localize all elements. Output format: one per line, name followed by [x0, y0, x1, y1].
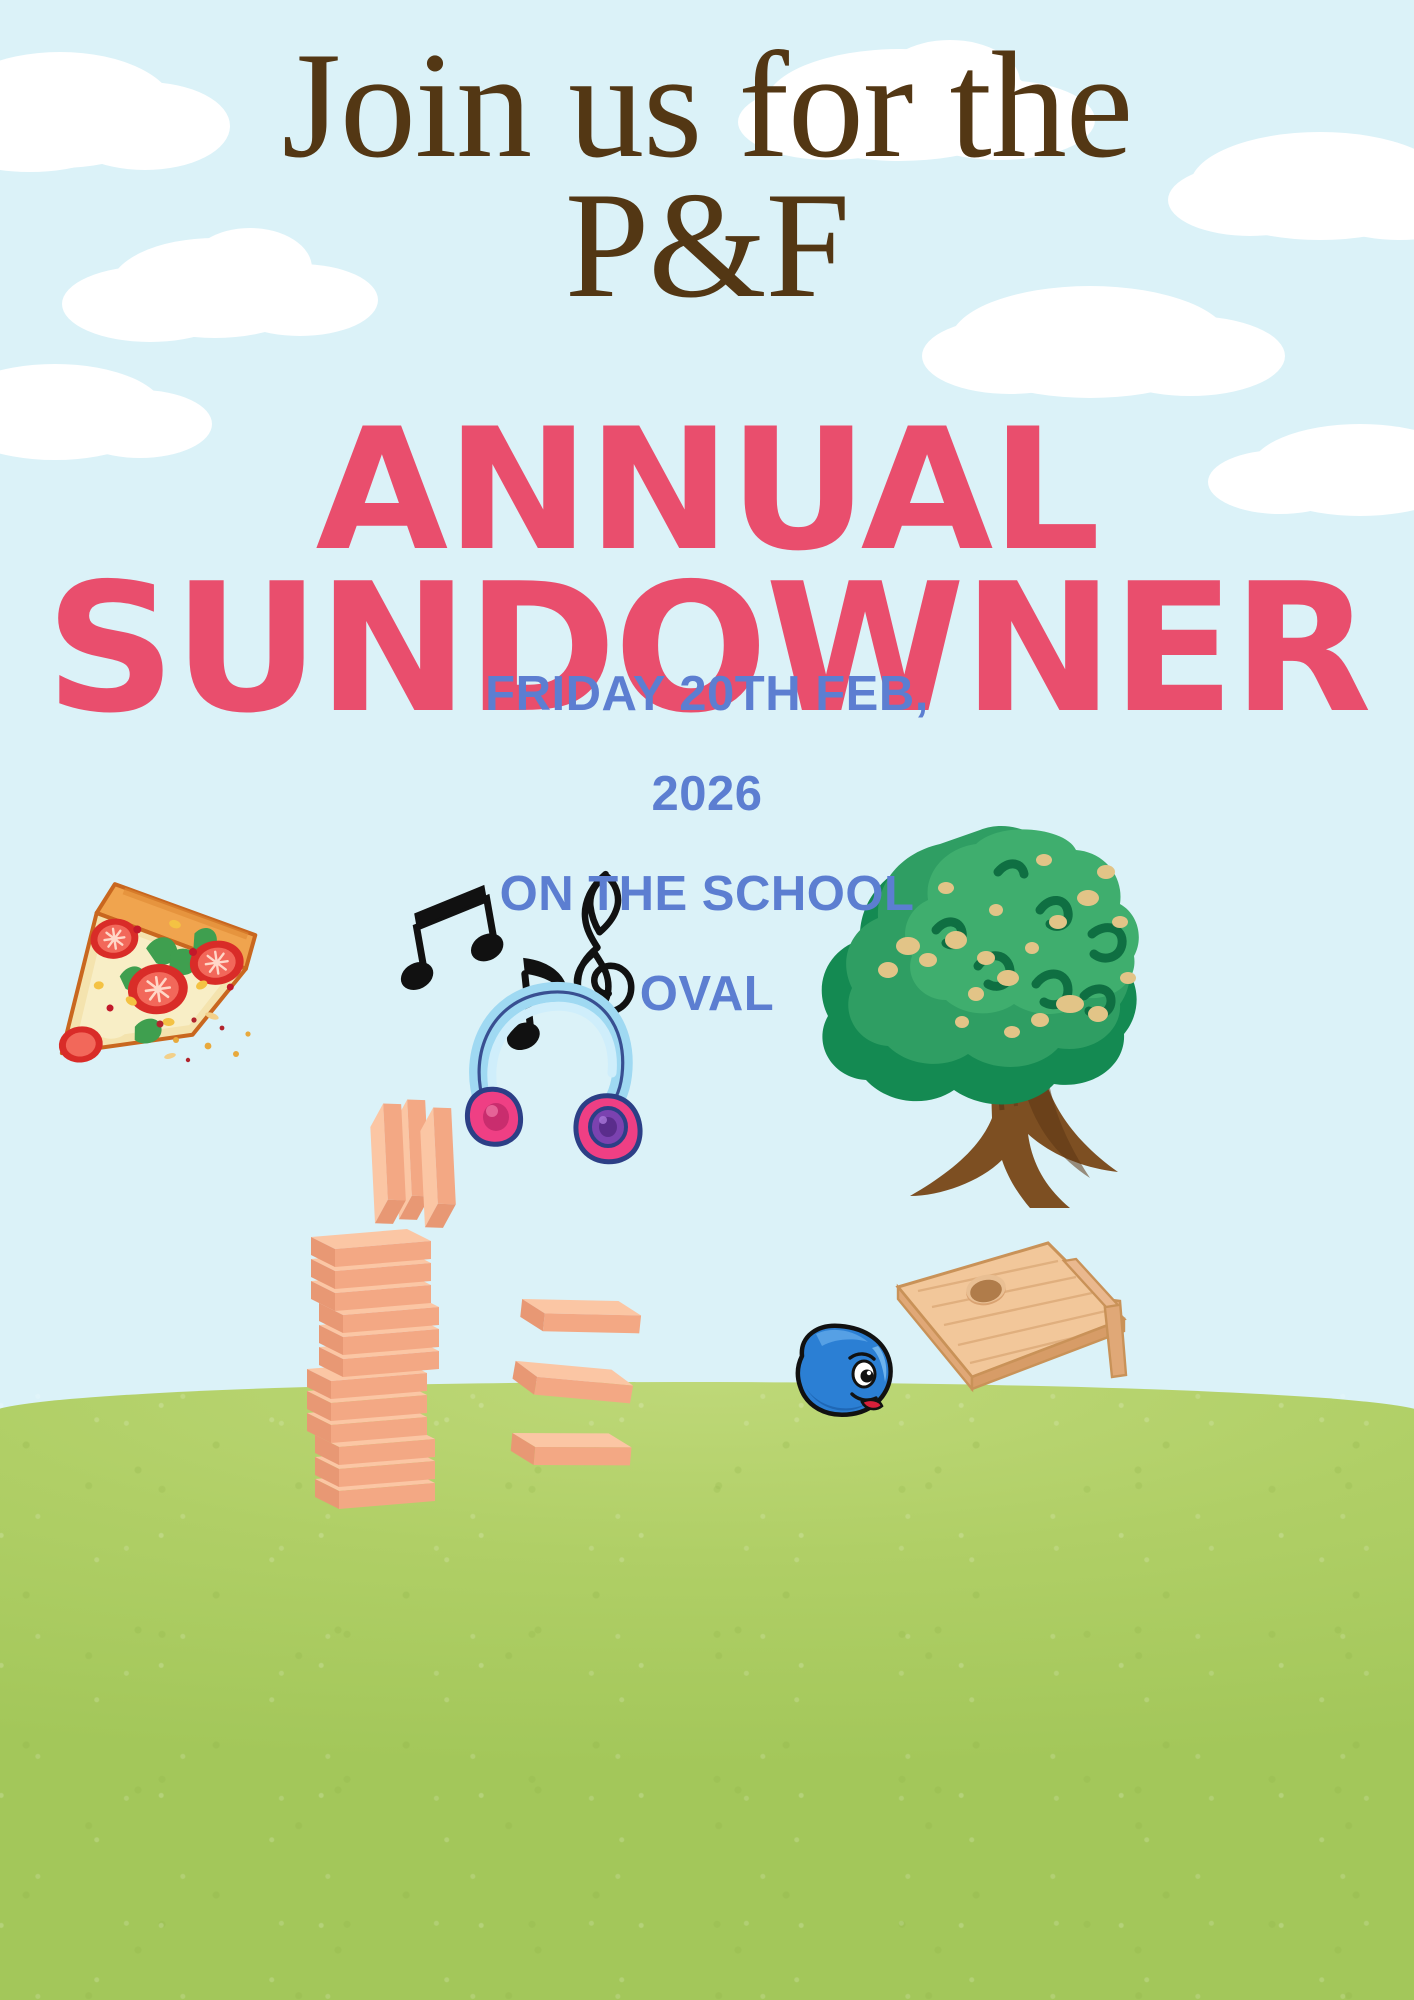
event-location-line-2: OVAL — [640, 967, 774, 1021]
jenga-loose-blocks — [510, 1291, 643, 1473]
headphone-left-cup — [467, 1089, 520, 1144]
headphone-right-cup — [576, 1096, 640, 1162]
poster-canvas: Join us for the P&F ANNUAL SUNDOWNER FRI… — [0, 0, 1414, 2000]
event-date-line: FRIDAY 20TH FEB, — [485, 667, 929, 721]
cornhole-board-illustration — [880, 1235, 1130, 1435]
jenga-tower-illustration — [295, 1225, 675, 1565]
event-details-block: FRIDAY 20TH FEB, 2026 ON THE SCHOOL OVAL — [0, 620, 1414, 1020]
event-location-line-1: ON THE SCHOOL — [500, 867, 915, 921]
grass-texture — [0, 1382, 1414, 2000]
grass-field — [0, 1382, 1414, 2000]
event-year-line: 2026 — [651, 767, 762, 821]
blue-beanbag-character — [782, 1318, 902, 1423]
